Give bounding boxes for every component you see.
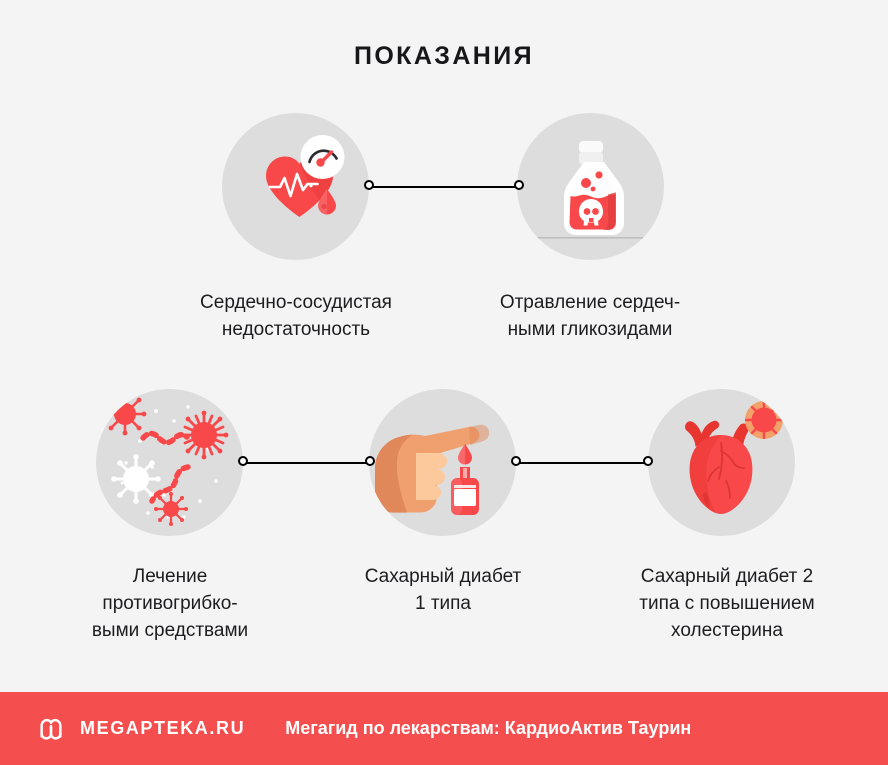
infographic-canvas: ПОКАЗАНИЯ Сердечно-сосудистая недостаточ… <box>0 0 888 692</box>
connector-node-left <box>238 456 248 466</box>
page-title: ПОКАЗАНИЯ <box>0 42 888 71</box>
icon-circle <box>222 113 369 260</box>
connector-row2-a <box>238 456 375 470</box>
node-label-diabetes-type-2-cholesterol: Сахарный диабет 2 типа с повышением холе… <box>592 563 862 644</box>
footer-brand-name: MEGAPTEKA.RU <box>80 718 245 739</box>
icon-circle <box>517 113 664 260</box>
connector-row1 <box>364 180 524 194</box>
icon-circle <box>369 389 516 536</box>
heart-pressure-gauge-icon <box>222 113 369 260</box>
connector-node-right <box>514 180 524 190</box>
connector-node-right <box>643 456 653 466</box>
node-label-diabetes-type-1: Сахарный диабет 1 типа <box>318 563 568 617</box>
connector-node-left <box>511 456 521 466</box>
node-diabetes-type-2-cholesterol <box>648 389 795 536</box>
node-label-antifungal-treatment: Лечение противогрибко- выми средствами <box>45 563 295 644</box>
node-label-cardiac-glycoside-poisoning: Отравление сердеч- ными гликозидами <box>450 289 730 343</box>
connector-row2-b <box>511 456 653 470</box>
fungi-microbes-icon <box>96 389 243 536</box>
icon-circle <box>648 389 795 536</box>
node-label-cardiovascular-failure: Сердечно-сосудистая недостаточность <box>146 289 446 343</box>
footer-bar: MEGAPTEKA.RU Мегагид по лекарствам: Кард… <box>0 692 888 765</box>
connector-line <box>245 462 368 464</box>
node-cardiac-glycoside-poisoning <box>517 113 664 260</box>
node-cardiovascular-failure <box>222 113 369 260</box>
poison-bottle-skull-icon <box>517 113 664 260</box>
connector-line <box>518 462 646 464</box>
anatomical-heart-blood-cell-icon <box>648 389 795 536</box>
megapteka-m-logo <box>36 714 66 744</box>
connector-node-left <box>364 180 374 190</box>
node-diabetes-type-1 <box>369 389 516 536</box>
node-antifungal-treatment <box>96 389 243 536</box>
footer-tagline: Мегагид по лекарствам: КардиоАктив Таури… <box>285 718 691 739</box>
connector-node-right <box>365 456 375 466</box>
hand-glucometer-icon <box>369 389 516 536</box>
connector-line <box>371 186 517 188</box>
icon-circle <box>96 389 243 536</box>
